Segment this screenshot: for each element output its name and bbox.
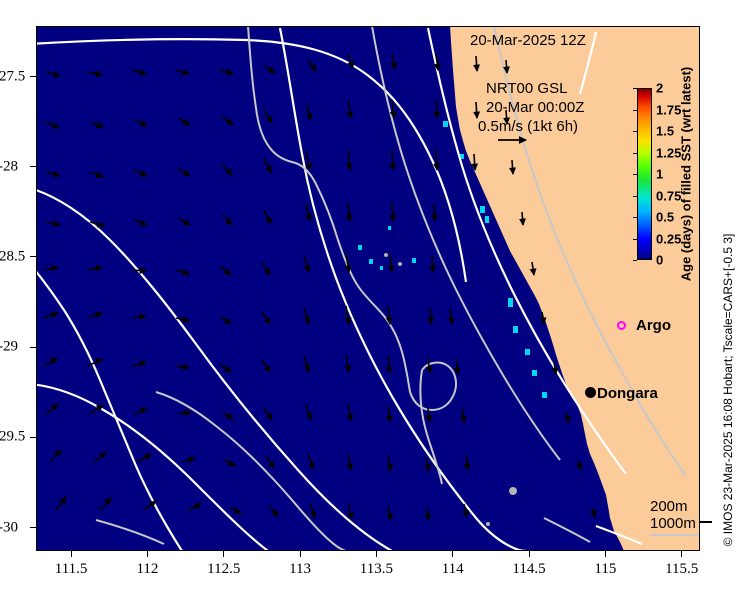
colorbar-tick-mark	[633, 217, 637, 218]
argo-legend-marker-icon	[617, 321, 626, 330]
argo-legend-label: Argo	[636, 317, 671, 334]
x-tick-mark	[605, 551, 606, 557]
y-tick-mark	[30, 76, 36, 77]
annotation-time: 20-Mar 00:00Z	[486, 99, 584, 116]
depth-legend-200m: 200m	[650, 498, 688, 515]
y-tick-mark	[30, 347, 36, 348]
y-tick-label: -29	[0, 339, 18, 356]
figure-canvas: 20-Mar-2025 12Z NRT00 GSL 20-Mar 00:00Z …	[0, 0, 740, 592]
x-tick-label: 113	[289, 561, 311, 578]
x-tick-mark	[681, 551, 682, 557]
x-tick-label: 111.5	[55, 561, 88, 578]
x-tick-mark	[529, 551, 530, 557]
y-tick-label: -28.5	[0, 248, 18, 265]
colorbar-tick-mark	[633, 88, 637, 89]
y-tick-label: -28	[0, 158, 18, 175]
depth-legend-1000m: 1000m	[650, 515, 696, 532]
x-tick-mark	[71, 551, 72, 557]
depth-legend-1000m-line	[700, 521, 712, 523]
colorbar-tick-label: 0.5	[656, 210, 674, 225]
colorbar-tick-label: 1	[656, 167, 663, 182]
colorbar-tick-mark	[633, 110, 637, 111]
colorbar-tick-mark	[633, 239, 637, 240]
x-tick-label: 113.5	[360, 561, 393, 578]
dongara-city-label: Dongara	[597, 385, 658, 402]
map-date-title: 20-Mar-2025 12Z	[470, 32, 586, 49]
x-tick-label: 114.5	[512, 561, 545, 578]
x-tick-mark	[452, 551, 453, 557]
x-tick-label: 115	[594, 561, 616, 578]
colorbar-tick-label: 1.5	[656, 124, 674, 139]
colorbar-tick-mark	[633, 196, 637, 197]
x-tick-mark	[223, 551, 224, 557]
colorbar-tick-label: 0	[656, 253, 663, 268]
y-tick-mark	[30, 256, 36, 257]
x-tick-mark	[300, 551, 301, 557]
annotation-product: NRT00 GSL	[486, 80, 567, 97]
credit-text: © IMOS 23-Mar-2025 16:08 Hobart; Tscale=…	[721, 234, 735, 547]
map-plot-area[interactable]	[36, 26, 700, 551]
y-tick-mark	[30, 527, 36, 528]
y-tick-mark	[30, 166, 36, 167]
colorbar-tick-mark	[633, 174, 637, 175]
y-tick-label: -30	[0, 519, 18, 536]
x-tick-mark	[147, 551, 148, 557]
y-tick-label: -27.5	[0, 68, 18, 85]
depth-legend-200m-line	[650, 534, 698, 536]
y-tick-mark	[30, 437, 36, 438]
y-tick-label: -29.5	[0, 429, 18, 446]
colorbar-tick-label: 2	[656, 81, 663, 96]
x-tick-label: 112	[136, 561, 158, 578]
x-tick-label: 112.5	[207, 561, 240, 578]
velocity-scale-arrow-icon	[496, 134, 536, 146]
dongara-city-dot-icon	[585, 387, 596, 398]
annotation-velocity-scale: 0.5m/s (1kt 6h)	[478, 118, 578, 135]
colorbar-tick-mark	[633, 153, 637, 154]
colorbar-tick-mark	[633, 131, 637, 132]
x-tick-label: 115.5	[665, 561, 698, 578]
colorbar-gradient	[637, 88, 652, 260]
x-tick-label: 114	[442, 561, 464, 578]
x-tick-mark	[376, 551, 377, 557]
colorbar-title: Age (days) of filled SST (wrt latest)	[679, 67, 694, 282]
colorbar-tick-mark	[633, 260, 637, 261]
